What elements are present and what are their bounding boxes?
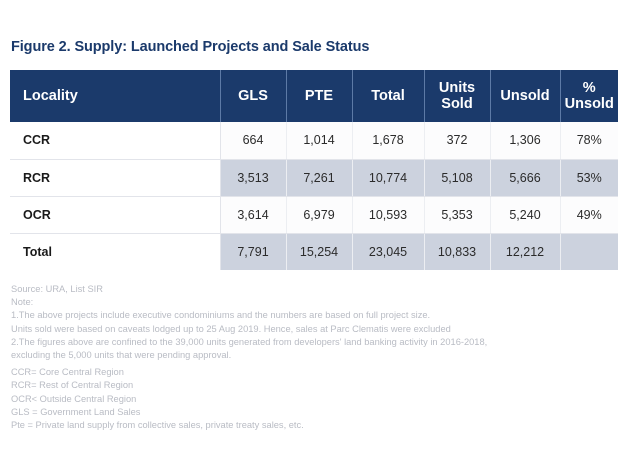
- column-header-pte: PTE: [286, 70, 352, 122]
- table-row: CCR 664 1,014 1,678 372 1,306 78%: [10, 122, 618, 159]
- cell-unsold: 5,666: [490, 159, 560, 196]
- note-2-line-2: excluding the 5,000 units that were pend…: [11, 349, 611, 362]
- table-row: RCR 3,513 7,261 10,774 5,108 5,666 53%: [10, 159, 618, 196]
- source-line: Source: URA, List SIR: [11, 283, 611, 296]
- cell-unsold: 12,212: [490, 233, 560, 270]
- table-header: Locality GLS PTE Total Units Sold Unsold…: [10, 70, 618, 122]
- column-header-unsold: Unsold: [490, 70, 560, 122]
- cell-unsold: 1,306: [490, 122, 560, 159]
- supply-table-container: Locality GLS PTE Total Units Sold Unsold…: [10, 70, 618, 270]
- table-row: OCR 3,614 6,979 10,593 5,353 5,240 49%: [10, 196, 618, 233]
- footnotes: Source: URA, List SIR Note: 1.The above …: [11, 283, 611, 432]
- cell-units-sold: 10,833: [424, 233, 490, 270]
- note-2-line-1: 2.The figures above are confined to the …: [11, 336, 611, 349]
- cell-total: 23,045: [352, 233, 424, 270]
- cell-pct-unsold: 78%: [560, 122, 618, 159]
- supply-table: Locality GLS PTE Total Units Sold Unsold…: [10, 70, 618, 270]
- column-header-total: Total: [352, 70, 424, 122]
- abbreviation-ocr: OCR< Outside Central Region: [11, 393, 611, 406]
- column-header-units-sold: Units Sold: [424, 70, 490, 122]
- cell-gls: 3,614: [220, 196, 286, 233]
- note-1-line-1: 1.The above projects include executive c…: [11, 309, 611, 322]
- abbreviation-gls: GLS = Government Land Sales: [11, 406, 611, 419]
- table-body: CCR 664 1,014 1,678 372 1,306 78% RCR 3,…: [10, 122, 618, 270]
- column-header-locality: Locality: [10, 70, 220, 122]
- cell-pct-unsold: 53%: [560, 159, 618, 196]
- cell-gls: 7,791: [220, 233, 286, 270]
- cell-units-sold: 372: [424, 122, 490, 159]
- note-label: Note:: [11, 296, 611, 309]
- table-header-row: Locality GLS PTE Total Units Sold Unsold…: [10, 70, 618, 122]
- cell-gls: 3,513: [220, 159, 286, 196]
- cell-units-sold: 5,353: [424, 196, 490, 233]
- column-header-gls: GLS: [220, 70, 286, 122]
- cell-locality: OCR: [10, 196, 220, 233]
- cell-pte: 7,261: [286, 159, 352, 196]
- abbreviation-ccr: CCR= Core Central Region: [11, 366, 611, 379]
- figure-page: Figure 2. Supply: Launched Projects and …: [0, 0, 640, 449]
- cell-unsold: 5,240: [490, 196, 560, 233]
- cell-total: 10,593: [352, 196, 424, 233]
- abbreviation-rcr: RCR= Rest of Central Region: [11, 379, 611, 392]
- cell-pte: 1,014: [286, 122, 352, 159]
- note-1-line-2: Units sold were based on caveats lodged …: [11, 323, 611, 336]
- cell-locality: CCR: [10, 122, 220, 159]
- cell-total: 1,678: [352, 122, 424, 159]
- cell-pte: 6,979: [286, 196, 352, 233]
- cell-gls: 664: [220, 122, 286, 159]
- page-title: Figure 2. Supply: Launched Projects and …: [11, 39, 369, 55]
- cell-units-sold: 5,108: [424, 159, 490, 196]
- cell-locality: RCR: [10, 159, 220, 196]
- table-row-total: Total 7,791 15,254 23,045 10,833 12,212: [10, 233, 618, 270]
- cell-pct-unsold: [560, 233, 618, 270]
- cell-pte: 15,254: [286, 233, 352, 270]
- abbreviation-pte: Pte = Private land supply from collectiv…: [11, 419, 611, 432]
- cell-pct-unsold: 49%: [560, 196, 618, 233]
- cell-total: 10,774: [352, 159, 424, 196]
- column-header-pct-unsold: % Unsold: [560, 70, 618, 122]
- cell-locality: Total: [10, 233, 220, 270]
